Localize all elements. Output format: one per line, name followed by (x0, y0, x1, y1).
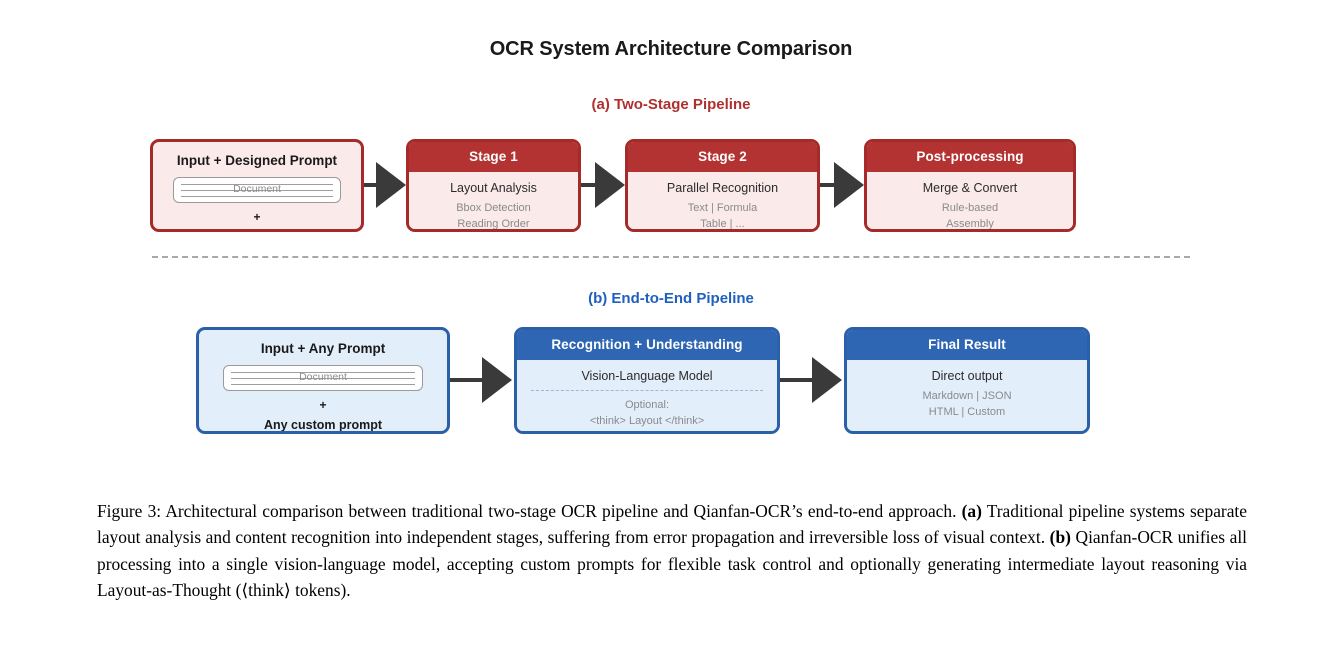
final-result-sub-1: Markdown | JSON (855, 389, 1079, 405)
document-card-b: Document (223, 365, 423, 391)
stage-2-main: Parallel Recognition (636, 181, 809, 195)
arrow-stage2-to-postprocessing (820, 162, 864, 208)
node-stage-2-header: Stage 2 (628, 142, 817, 172)
stage-1-sub-2: Reading Order (417, 217, 570, 232)
node-stage-1: Stage 1 Layout Analysis Bbox Detection R… (406, 139, 581, 232)
post-processing-main: Merge & Convert (875, 181, 1065, 195)
node-recognition-header: Recognition + Understanding (517, 330, 777, 360)
figure-canvas: OCR System Architecture Comparison (a) T… (0, 0, 1342, 480)
node-final-result-header: Final Result (847, 330, 1087, 360)
section-label-two-stage: (a) Two-Stage Pipeline (0, 96, 1342, 113)
stage-1-sub-1: Bbox Detection (417, 201, 570, 217)
input-title-b: Input + Any Prompt (199, 341, 447, 356)
recognition-inner-divider (531, 390, 763, 391)
node-input-any-prompt: Input + Any Prompt Document + Any custom… (196, 327, 450, 434)
stage-2-sub-2: Table | ... (636, 217, 809, 232)
node-post-processing: Post-processing Merge & Convert Rule-bas… (864, 139, 1076, 232)
section-label-end-to-end: (b) End-to-End Pipeline (0, 290, 1342, 307)
final-result-main: Direct output (855, 369, 1079, 383)
figure-title: OCR System Architecture Comparison (0, 38, 1342, 61)
node-input-designed-prompt: Input + Designed Prompt Document + Desig… (150, 139, 364, 232)
caption-bold-b: (b) (1050, 527, 1071, 547)
plus-sign: + (153, 210, 361, 224)
input-title: Input + Designed Prompt (153, 153, 361, 168)
node-stage-2: Stage 2 Parallel Recognition Text | Form… (625, 139, 820, 232)
node-final-result: Final Result Direct output Markdown | JS… (844, 327, 1090, 434)
caption-prefix: Figure 3: (97, 501, 161, 521)
node-recognition-understanding: Recognition + Understanding Vision-Langu… (514, 327, 780, 434)
stage-1-main: Layout Analysis (417, 181, 570, 195)
recognition-sub-2: <think> Layout </think> (525, 414, 769, 430)
pipeline-divider (152, 256, 1190, 258)
node-stage-1-header: Stage 1 (409, 142, 578, 172)
node-post-processing-header: Post-processing (867, 142, 1073, 172)
post-processing-sub-2: Assembly (875, 217, 1065, 232)
caption-bold-a: (a) (962, 501, 982, 521)
recognition-sub-1: Optional: (525, 398, 769, 414)
input-foot-label-b: Any custom prompt (199, 418, 447, 432)
node-post-processing-body: Merge & Convert Rule-based Assembly (867, 172, 1073, 232)
arrow-input-to-stage1 (364, 162, 406, 208)
document-card: Document (173, 177, 341, 203)
input-foot-label: Designed prompt (153, 230, 361, 232)
recognition-main: Vision-Language Model (525, 369, 769, 383)
node-stage-2-body: Parallel Recognition Text | Formula Tabl… (628, 172, 817, 232)
plus-sign-b: + (199, 398, 447, 412)
caption-text-1: Architectural comparison between traditi… (161, 501, 962, 521)
document-card-label: Document (174, 183, 340, 195)
post-processing-sub-1: Rule-based (875, 201, 1065, 217)
figure-caption: Figure 3: Architectural comparison betwe… (97, 498, 1247, 604)
arrow-input-to-vlm (450, 357, 512, 403)
arrow-stage1-to-stage2 (581, 162, 625, 208)
node-stage-1-body: Layout Analysis Bbox Detection Reading O… (409, 172, 578, 232)
stage-2-sub-1: Text | Formula (636, 201, 809, 217)
node-final-result-body: Direct output Markdown | JSON HTML | Cus… (847, 360, 1087, 429)
arrow-vlm-to-final-result (780, 357, 842, 403)
final-result-sub-2: HTML | Custom (855, 405, 1079, 421)
document-card-label-b: Document (224, 371, 422, 383)
node-recognition-body: Vision-Language Model Optional: <think> … (517, 360, 777, 434)
